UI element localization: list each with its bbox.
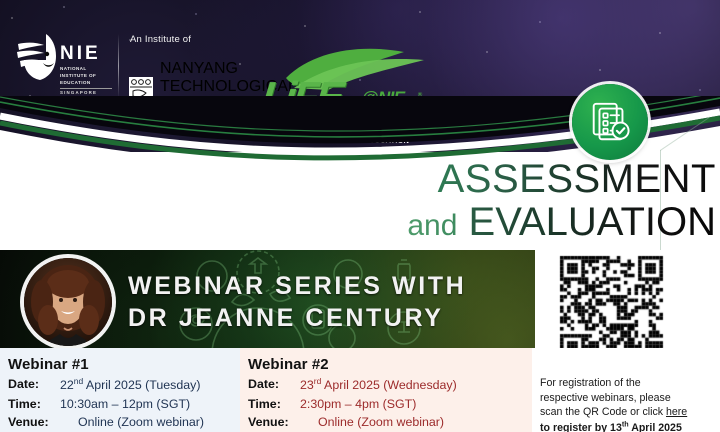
webinar-2-time-label: Time: [248, 396, 300, 414]
registration-instructions: For registration of the respective webin… [540, 376, 718, 432]
webinar-1-date-label: Date: [8, 376, 60, 395]
series-line-1: WEBINAR SERIES WITH [128, 270, 466, 302]
webinar-1-heading: Webinar #1 [8, 356, 240, 373]
logo-divider [118, 34, 119, 98]
avatar-photo [24, 258, 112, 346]
webinar-2-venue-value: Online (Zoom webinar) [300, 414, 532, 432]
title-line-assessment: ASSESSMENT [372, 158, 716, 201]
webinar-2-date-label: Date: [248, 376, 300, 395]
nie-full-name: NATIONAL INSTITUTE OF EDUCATION [60, 65, 112, 86]
webinar-2-time-value: 2:30pm – 4pm (SGT) [300, 396, 532, 414]
reg-line-2: respective webinars, please [540, 392, 671, 404]
life-at-nie-text: @NIESG® [362, 88, 422, 108]
reg-line-3: scan the QR Code or click [540, 406, 666, 418]
reg-deadline: to register by 13th April 2025 [540, 422, 682, 432]
life-at-nie-logo: LiFE @NIESG® LEARNING INITIATIVES FOR TH… [262, 48, 442, 134]
series-heading: WEBINAR SERIES WITH DR JEANNE CENTURY [128, 270, 466, 334]
nie-logo-text: NIE NATIONAL INSTITUTE OF EDUCATION SING… [60, 44, 112, 95]
assessment-badge-icon [572, 84, 648, 160]
webinar-1-time-value: 10:30am – 12pm (SGT) [60, 396, 240, 414]
webinar-2-time-row: Time: 2:30pm – 4pm (SGT) [248, 396, 532, 414]
lion-head-icon [16, 32, 60, 82]
webinar-2-heading: Webinar #2 [248, 356, 532, 373]
webinar-2-panel: Webinar #2 Date: 23rd April 2025 (Wednes… [240, 348, 532, 432]
webinar-2-date-row: Date: 23rd April 2025 (Wednesday) [248, 376, 532, 395]
life-wordmark: LiFE [260, 76, 343, 118]
checklist-document-check-icon [587, 99, 633, 145]
page-title: ASSESSMENT and EVALUATION [372, 158, 716, 244]
webinar-1-time-label: Time: [8, 396, 60, 414]
webinar-1-venue-label: Venue: [8, 414, 60, 432]
nie-abbr: NIE [60, 44, 112, 63]
nie-logo: NIE NATIONAL INSTITUTE OF EDUCATION SING… [16, 32, 112, 102]
institute-of-label: An Institute of [130, 34, 191, 45]
register-here-link[interactable]: here [666, 406, 687, 418]
speaker-avatar [24, 258, 112, 346]
title-and-word: and [407, 209, 457, 242]
webinar-2-venue-row: Venue: Online (Zoom webinar) [248, 414, 532, 432]
reg-line-1: For registration of the [540, 377, 641, 389]
webinar-1-date-row: Date: 22nd April 2025 (Tuesday) [8, 376, 240, 395]
series-line-2: DR JEANNE CENTURY [128, 302, 466, 334]
webinar-1-time-row: Time: 10:30am – 12pm (SGT) [8, 396, 240, 414]
poster-root: NIE NATIONAL INSTITUTE OF EDUCATION SING… [0, 0, 720, 432]
life-tagline: LEARNING INITIATIVES FOR THE FUTURE OF E… [364, 106, 442, 145]
webinar-1-panel: Webinar #1 Date: 22nd April 2025 (Tuesda… [0, 348, 240, 432]
webinar-2-date-value: 23rd April 2025 (Wednesday) [300, 376, 532, 395]
title-evaluation-word: EVALUATION [469, 200, 716, 244]
webinar-1-date-value: 22nd April 2025 (Tuesday) [60, 376, 240, 395]
webinar-1-venue-value: Online (Zoom webinar) [60, 414, 240, 432]
webinar-1-venue-row: Venue: Online (Zoom webinar) [8, 414, 240, 432]
webinar-series-banner: WEBINAR SERIES WITH DR JEANNE CENTURY [0, 250, 535, 348]
nie-country: SINGAPORE [60, 88, 112, 95]
webinar-2-venue-label: Venue: [248, 414, 300, 432]
title-line-evaluation: and EVALUATION [372, 201, 716, 244]
ntu-crest-icon [128, 76, 154, 106]
logo-row: NIE NATIONAL INSTITUTE OF EDUCATION SING… [0, 26, 440, 110]
